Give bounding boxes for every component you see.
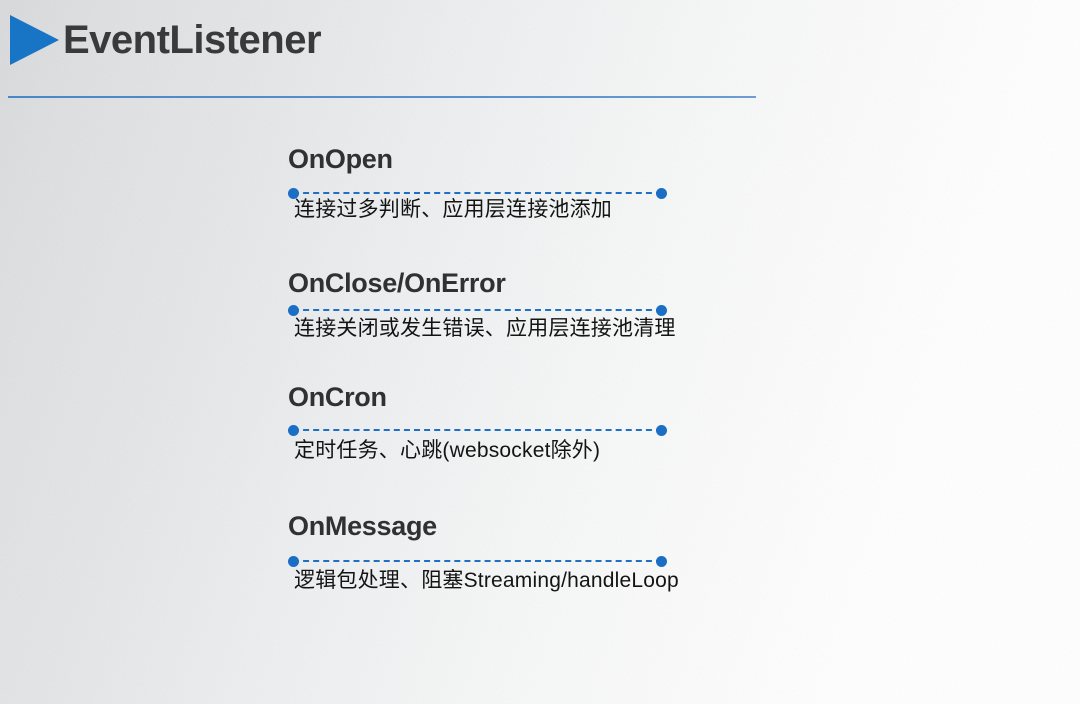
divider-dot-right xyxy=(656,425,667,436)
divider-dashed-line xyxy=(293,560,662,562)
block-heading: OnOpen xyxy=(288,142,393,176)
slide-header: EventListener xyxy=(0,0,1080,110)
block-heading: OnCron xyxy=(288,380,387,414)
page-title: EventListener xyxy=(63,13,321,67)
block-description: 连接关闭或发生错误、应用层连接池清理 xyxy=(294,315,676,343)
divider-dashed-line xyxy=(293,429,662,431)
slide-canvas: EventListener OnOpen 连接过多判断、应用层连接池添加 OnC… xyxy=(0,0,1080,704)
divider-dot-right xyxy=(656,556,667,567)
divider-dashed-line xyxy=(293,309,662,311)
divider-dashed-line xyxy=(293,192,662,194)
block-heading: OnMessage xyxy=(288,509,437,543)
block-description: 逻辑包处理、阻塞Streaming/handleLoop xyxy=(294,567,679,595)
block-heading: OnClose/OnError xyxy=(288,266,506,300)
block-divider xyxy=(288,425,667,436)
header-divider-rule xyxy=(8,96,756,98)
divider-dot-right xyxy=(656,188,667,199)
block-description: 连接过多判断、应用层连接池添加 xyxy=(294,196,612,224)
block-description: 定时任务、心跳(websocket除外) xyxy=(294,437,600,465)
play-triangle-icon xyxy=(10,15,59,65)
block-divider xyxy=(288,556,667,567)
